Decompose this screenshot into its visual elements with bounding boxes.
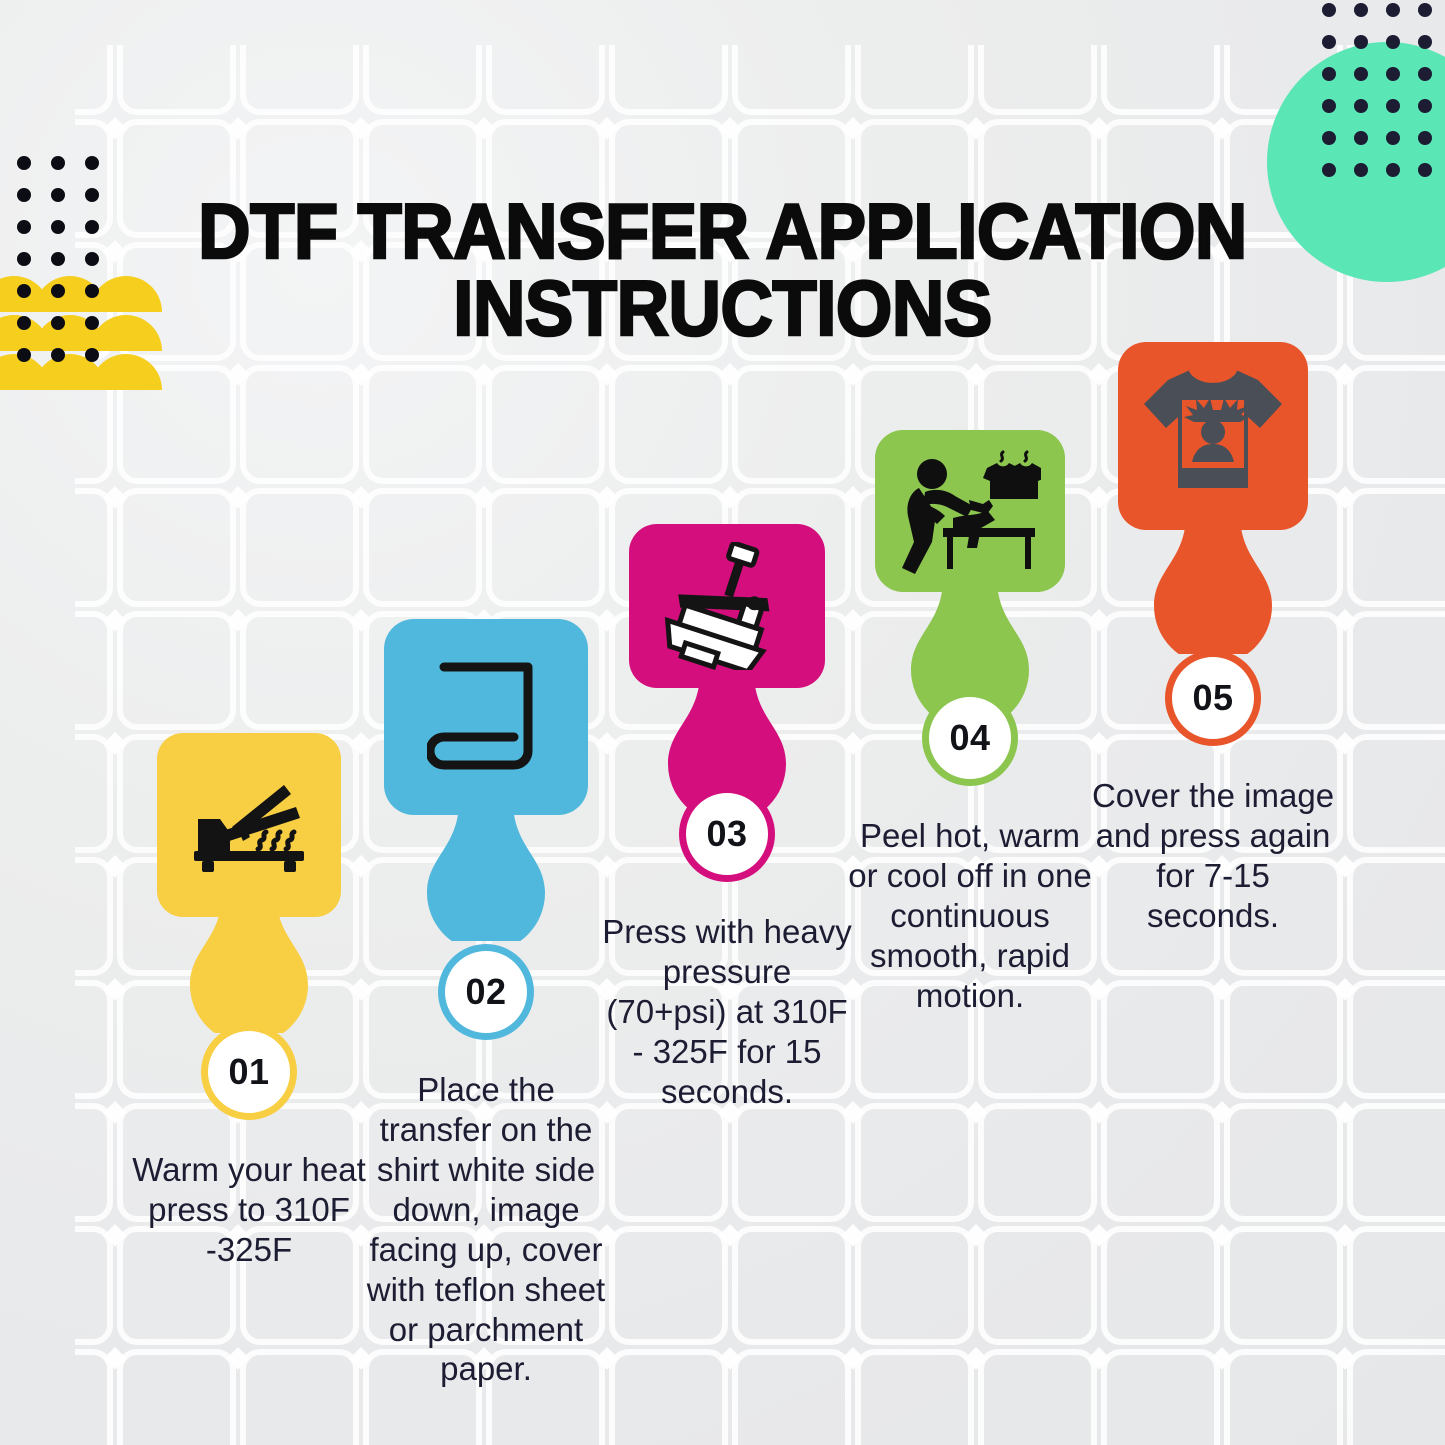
step-02-connector (421, 801, 551, 941)
step-01-icon-tile (157, 733, 341, 917)
step-02: 02 Place the transfer on the shirt white… (355, 619, 617, 1389)
step-03-badge: 03 (596, 524, 858, 882)
printed-tshirt-icon (1138, 362, 1288, 510)
step-02-number: 02 (465, 971, 506, 1013)
step-04-badge: 04 (839, 430, 1101, 786)
step-03-caption: Press with heavy pressure (70+psi) at 31… (596, 912, 858, 1112)
step-05-number: 05 (1192, 677, 1233, 719)
step-05-badge: 05 (1082, 342, 1344, 746)
step-01-badge: 01 (118, 733, 380, 1120)
step-05-icon-tile (1118, 342, 1308, 530)
step-01: 01 Warm your heat press to 310F -325F (118, 733, 380, 1270)
steps-container: 01 Warm your heat press to 310F -325F 02 (0, 0, 1445, 1445)
step-03-icon-tile (629, 524, 825, 688)
step-04-caption: Peel hot, warm or cool off in one contin… (839, 816, 1101, 1016)
heat-press-open-icon (188, 771, 310, 879)
step-04-number-circle: 04 (922, 690, 1018, 786)
step-03: 03 Press with heavy pressure (70+psi) at… (596, 524, 858, 1112)
step-04: 04 Peel hot, warm or cool off in one con… (839, 430, 1101, 1016)
step-04-number: 04 (949, 717, 990, 759)
step-05: 05 Cover the image and press again for 7… (1082, 342, 1344, 936)
step-01-caption: Warm your heat press to 310F -325F (118, 1150, 380, 1270)
step-03-number: 03 (706, 813, 747, 855)
step-05-connector (1148, 514, 1278, 654)
step-01-number-circle: 01 (201, 1024, 297, 1120)
step-01-number: 01 (228, 1051, 269, 1093)
step-03-number-circle: 03 (679, 786, 775, 882)
step-02-caption: Place the transfer on the shirt white si… (355, 1070, 617, 1389)
step-02-number-circle: 02 (438, 944, 534, 1040)
step-05-number-circle: 05 (1165, 650, 1261, 746)
step-02-icon-tile (384, 619, 588, 815)
heat-press-machine-icon (663, 542, 791, 670)
step-02-badge: 02 (355, 619, 617, 1040)
step-05-caption: Cover the image and press again for 7-15… (1082, 776, 1344, 936)
transfer-sheet-icon (427, 659, 545, 775)
peeling-person-icon (899, 448, 1041, 574)
step-04-icon-tile (875, 430, 1065, 592)
